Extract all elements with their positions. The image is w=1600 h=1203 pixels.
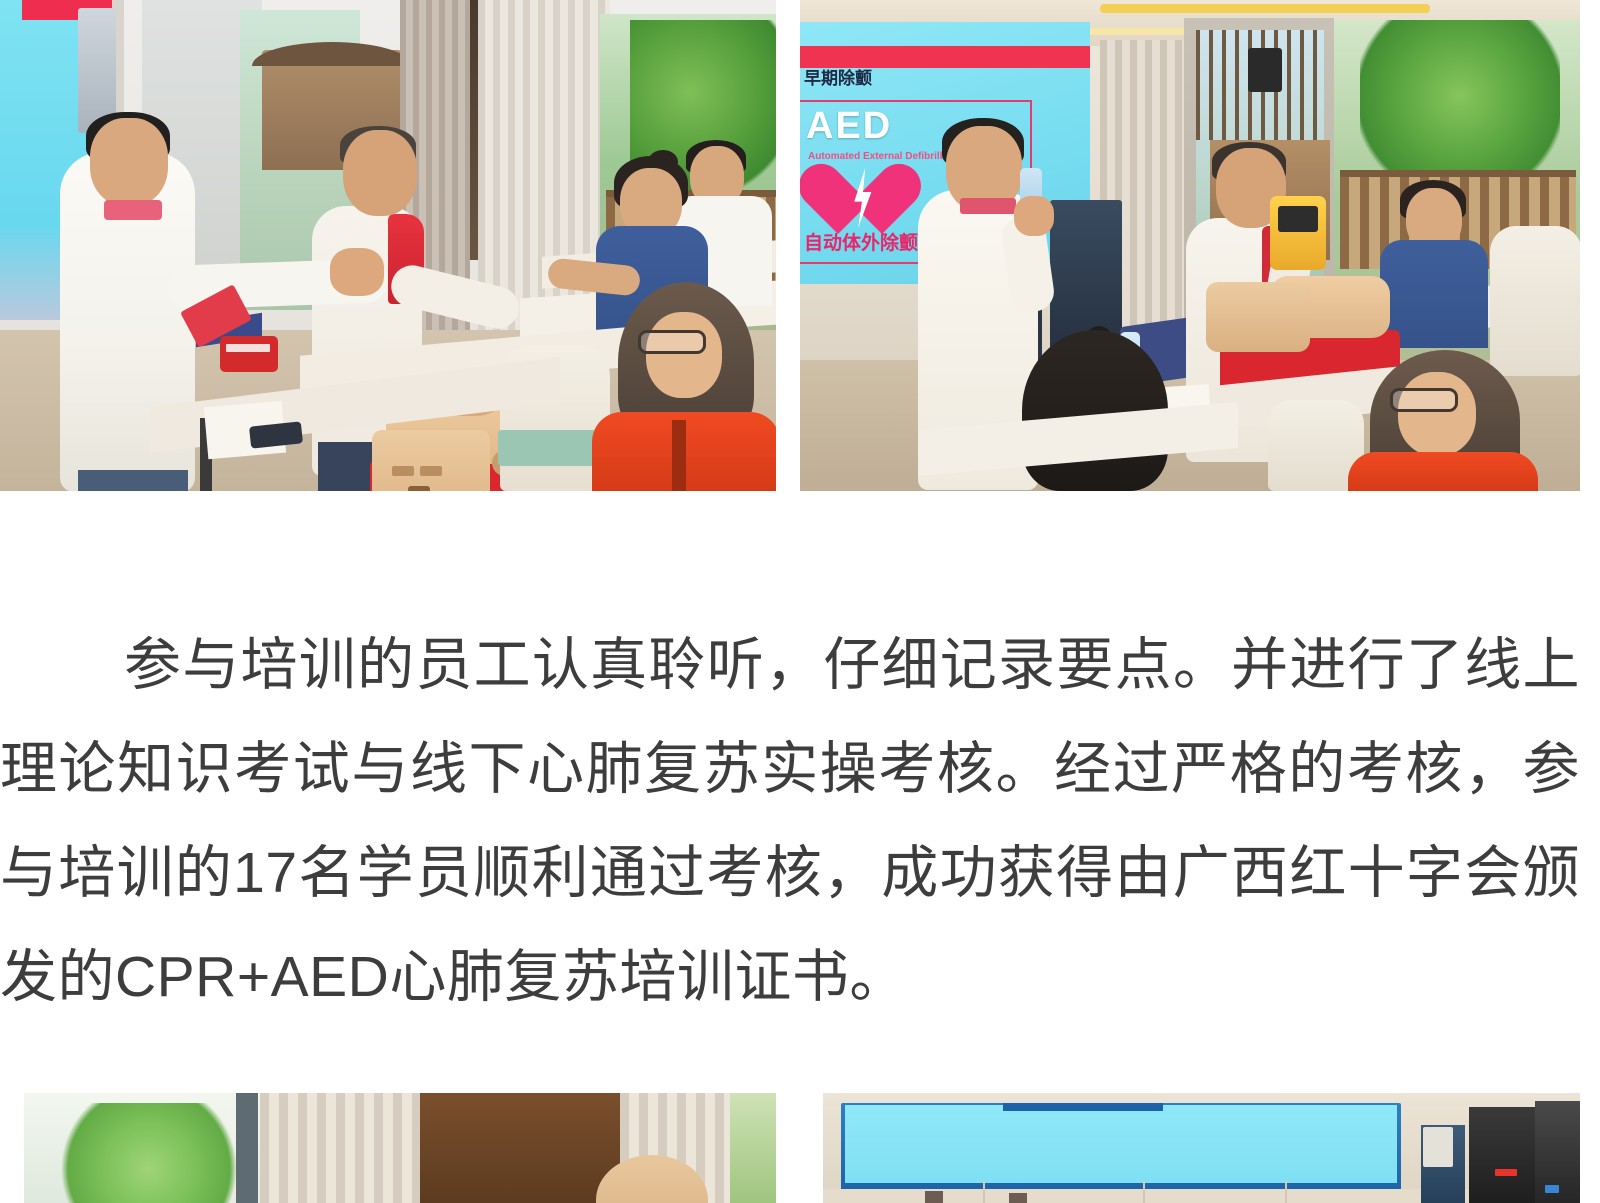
training-room-window-scene <box>24 1093 776 1203</box>
slide-banner <box>800 46 1090 68</box>
presenter-hand <box>1014 196 1054 236</box>
instructor-legs <box>78 470 188 491</box>
lecture-participant-orange-glasses <box>1390 388 1458 412</box>
rack-led-indicator-red <box>1495 1169 1517 1176</box>
photo-training-room-window[interactable] <box>24 1093 776 1203</box>
cpr-demo-scene <box>0 0 776 491</box>
window-greenery <box>730 1093 776 1203</box>
presenter-lanyard <box>960 198 1016 214</box>
manikin-eye-left <box>392 466 414 476</box>
instructor-lanyard <box>104 200 162 220</box>
participant-orange-glasses <box>638 330 706 354</box>
ceiling-light-strip-1 <box>1100 4 1430 13</box>
photo-projector-equipment[interactable] <box>823 1093 1580 1203</box>
ceiling-speaker <box>1248 48 1282 92</box>
rack-led-indicator-blue <box>1545 1185 1559 1193</box>
instructor-hand <box>330 248 384 296</box>
aed-device-screen <box>1278 206 1318 232</box>
lecture-tree <box>1360 20 1560 190</box>
wall-control-plate <box>1423 1127 1453 1167</box>
av-equipment-rack <box>1469 1107 1535 1203</box>
wall-outlet-2 <box>1009 1193 1027 1203</box>
window-curtain-left <box>260 1093 420 1203</box>
aed-lecture-scene: 早期除颤 AED Automated External Defibrillato… <box>800 0 1580 491</box>
lecture-chair-back <box>1490 226 1580 376</box>
window-tree <box>54 1103 244 1203</box>
window-mullion <box>236 1093 258 1203</box>
slide-heading: 早期除颤 <box>804 66 944 92</box>
volunteer-head <box>343 130 417 216</box>
first-aid-case-label <box>226 344 270 352</box>
participant-orange-strap <box>672 420 686 491</box>
photo-row-bottom <box>24 1093 1580 1203</box>
lecture-participant-orange-face <box>1398 372 1476 456</box>
wood-partition <box>420 1093 620 1203</box>
projector-screen-surface <box>845 1105 1397 1183</box>
manikin-eye-right <box>420 466 442 476</box>
photo-aed-lecture[interactable]: 早期除颤 AED Automated External Defibrillato… <box>800 0 1580 491</box>
photo-cpr-demonstration[interactable] <box>0 0 776 491</box>
lecture-participant-orange-shirt <box>1348 452 1538 491</box>
first-aid-case <box>220 336 278 372</box>
projector-screen-top-band <box>1003 1103 1163 1111</box>
instructor-head <box>90 118 168 206</box>
projector-equipment-scene <box>823 1093 1580 1203</box>
photo-row-top: 早期除颤 AED Automated External Defibrillato… <box>0 0 1580 491</box>
manikin-mouth <box>408 486 430 491</box>
article-body-text: 参与培训的员工认真聆听，仔细记录要点。并进行了线上理论知识考试与线下心肺复苏实操… <box>0 613 1580 1029</box>
lecture-manikin-head <box>1206 282 1310 352</box>
manikin-head <box>372 430 490 491</box>
wall-outlet-1 <box>925 1191 943 1203</box>
article-page: 早期除颤 AED Automated External Defibrillato… <box>0 0 1600 1200</box>
participant-orange-face <box>646 312 722 398</box>
